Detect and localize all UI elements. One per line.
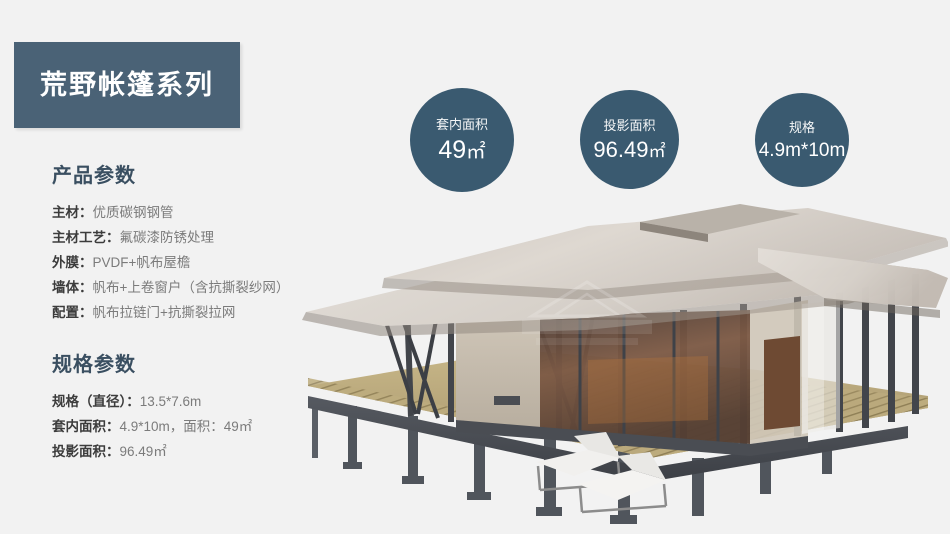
stat-circle-interior-area: 套内面积 49㎡ <box>410 88 514 192</box>
product-parameters-section: 产品参数 主材：优质碳钢钢管 主材工艺：氟碳漆防锈处理 外膜：PVDF+帆布屋檐… <box>52 166 289 325</box>
stat-circles-group: 套内面积 49㎡ 投影面积 96.49㎡ 规格 4.9m*10m <box>410 88 910 196</box>
tent-render-image <box>288 200 948 530</box>
stat-label: 套内面积 <box>436 118 488 131</box>
spec-label: 外膜： <box>52 255 93 270</box>
page-title: 荒野帐篷系列 <box>40 72 214 99</box>
spec-value: 帆布+上卷窗户（含抗撕裂纱网） <box>93 280 290 295</box>
size-parameters-section: 规格参数 规格（直径）：13.5*7.6m 套内面积：4.9*10m，面积：49… <box>52 355 252 464</box>
spec-label: 墙体： <box>52 280 93 295</box>
spec-label: 主材： <box>52 205 93 220</box>
spec-label: 投影面积： <box>52 444 120 459</box>
spec-label: 套内面积： <box>52 419 120 434</box>
stat-label: 投影面积 <box>603 119 655 132</box>
spec-row: 投影面积：96.49㎡ <box>52 439 252 464</box>
stat-circle-projected-area: 投影面积 96.49㎡ <box>580 90 679 189</box>
size-parameters-heading: 规格参数 <box>52 355 252 375</box>
stat-value: 49㎡ <box>438 138 485 163</box>
spec-row: 主材工艺：氟碳漆防锈处理 <box>52 225 289 250</box>
spec-value: 96.49㎡ <box>120 444 167 459</box>
spec-row: 墙体：帆布+上卷窗户（含抗撕裂纱网） <box>52 275 289 300</box>
stat-unit: ㎡ <box>466 141 486 163</box>
page-root: 荒野帐篷系列 产品参数 主材：优质碳钢钢管 主材工艺：氟碳漆防锈处理 外膜：PV… <box>0 0 950 534</box>
stat-number: 96.49 <box>593 137 648 162</box>
spec-value: 优质碳钢钢管 <box>93 205 174 220</box>
product-parameters-heading: 产品参数 <box>52 166 289 186</box>
spec-row: 外膜：PVDF+帆布屋檐 <box>52 250 289 275</box>
stat-number: 49 <box>438 136 466 164</box>
spec-label: 配置： <box>52 305 93 320</box>
stat-circle-dimensions: 规格 4.9m*10m <box>755 93 849 187</box>
tent-roof <box>302 204 948 336</box>
tent-render-svg <box>288 200 948 530</box>
size-parameters-list: 规格（直径）：13.5*7.6m 套内面积：4.9*10m，面积：49㎡ 投影面… <box>52 389 252 464</box>
spec-value: 13.5*7.6m <box>140 394 202 409</box>
title-banner: 荒野帐篷系列 <box>14 42 240 128</box>
spec-row: 规格（直径）：13.5*7.6m <box>52 389 252 414</box>
spec-label: 规格（直径）： <box>52 394 140 409</box>
spec-value: 氟碳漆防锈处理 <box>120 230 215 245</box>
spec-row: 套内面积：4.9*10m，面积：49㎡ <box>52 414 252 439</box>
spec-row: 配置：帆布拉链门+抗撕裂拉网 <box>52 300 289 325</box>
spec-value: 帆布拉链门+抗撕裂拉网 <box>93 305 236 320</box>
stat-number: 4.9m*10m <box>759 140 846 161</box>
product-parameters-list: 主材：优质碳钢钢管 主材工艺：氟碳漆防锈处理 外膜：PVDF+帆布屋檐 墙体：帆… <box>52 200 289 325</box>
spec-row: 主材：优质碳钢钢管 <box>52 200 289 225</box>
stat-value: 4.9m*10m <box>759 141 846 160</box>
spec-value: 4.9*10m，面积：49㎡ <box>120 419 253 434</box>
stat-label: 规格 <box>789 121 815 134</box>
stat-unit: ㎡ <box>648 141 665 161</box>
spec-label: 主材工艺： <box>52 230 120 245</box>
spec-value: PVDF+帆布屋檐 <box>93 255 191 270</box>
stat-value: 96.49㎡ <box>593 139 665 161</box>
